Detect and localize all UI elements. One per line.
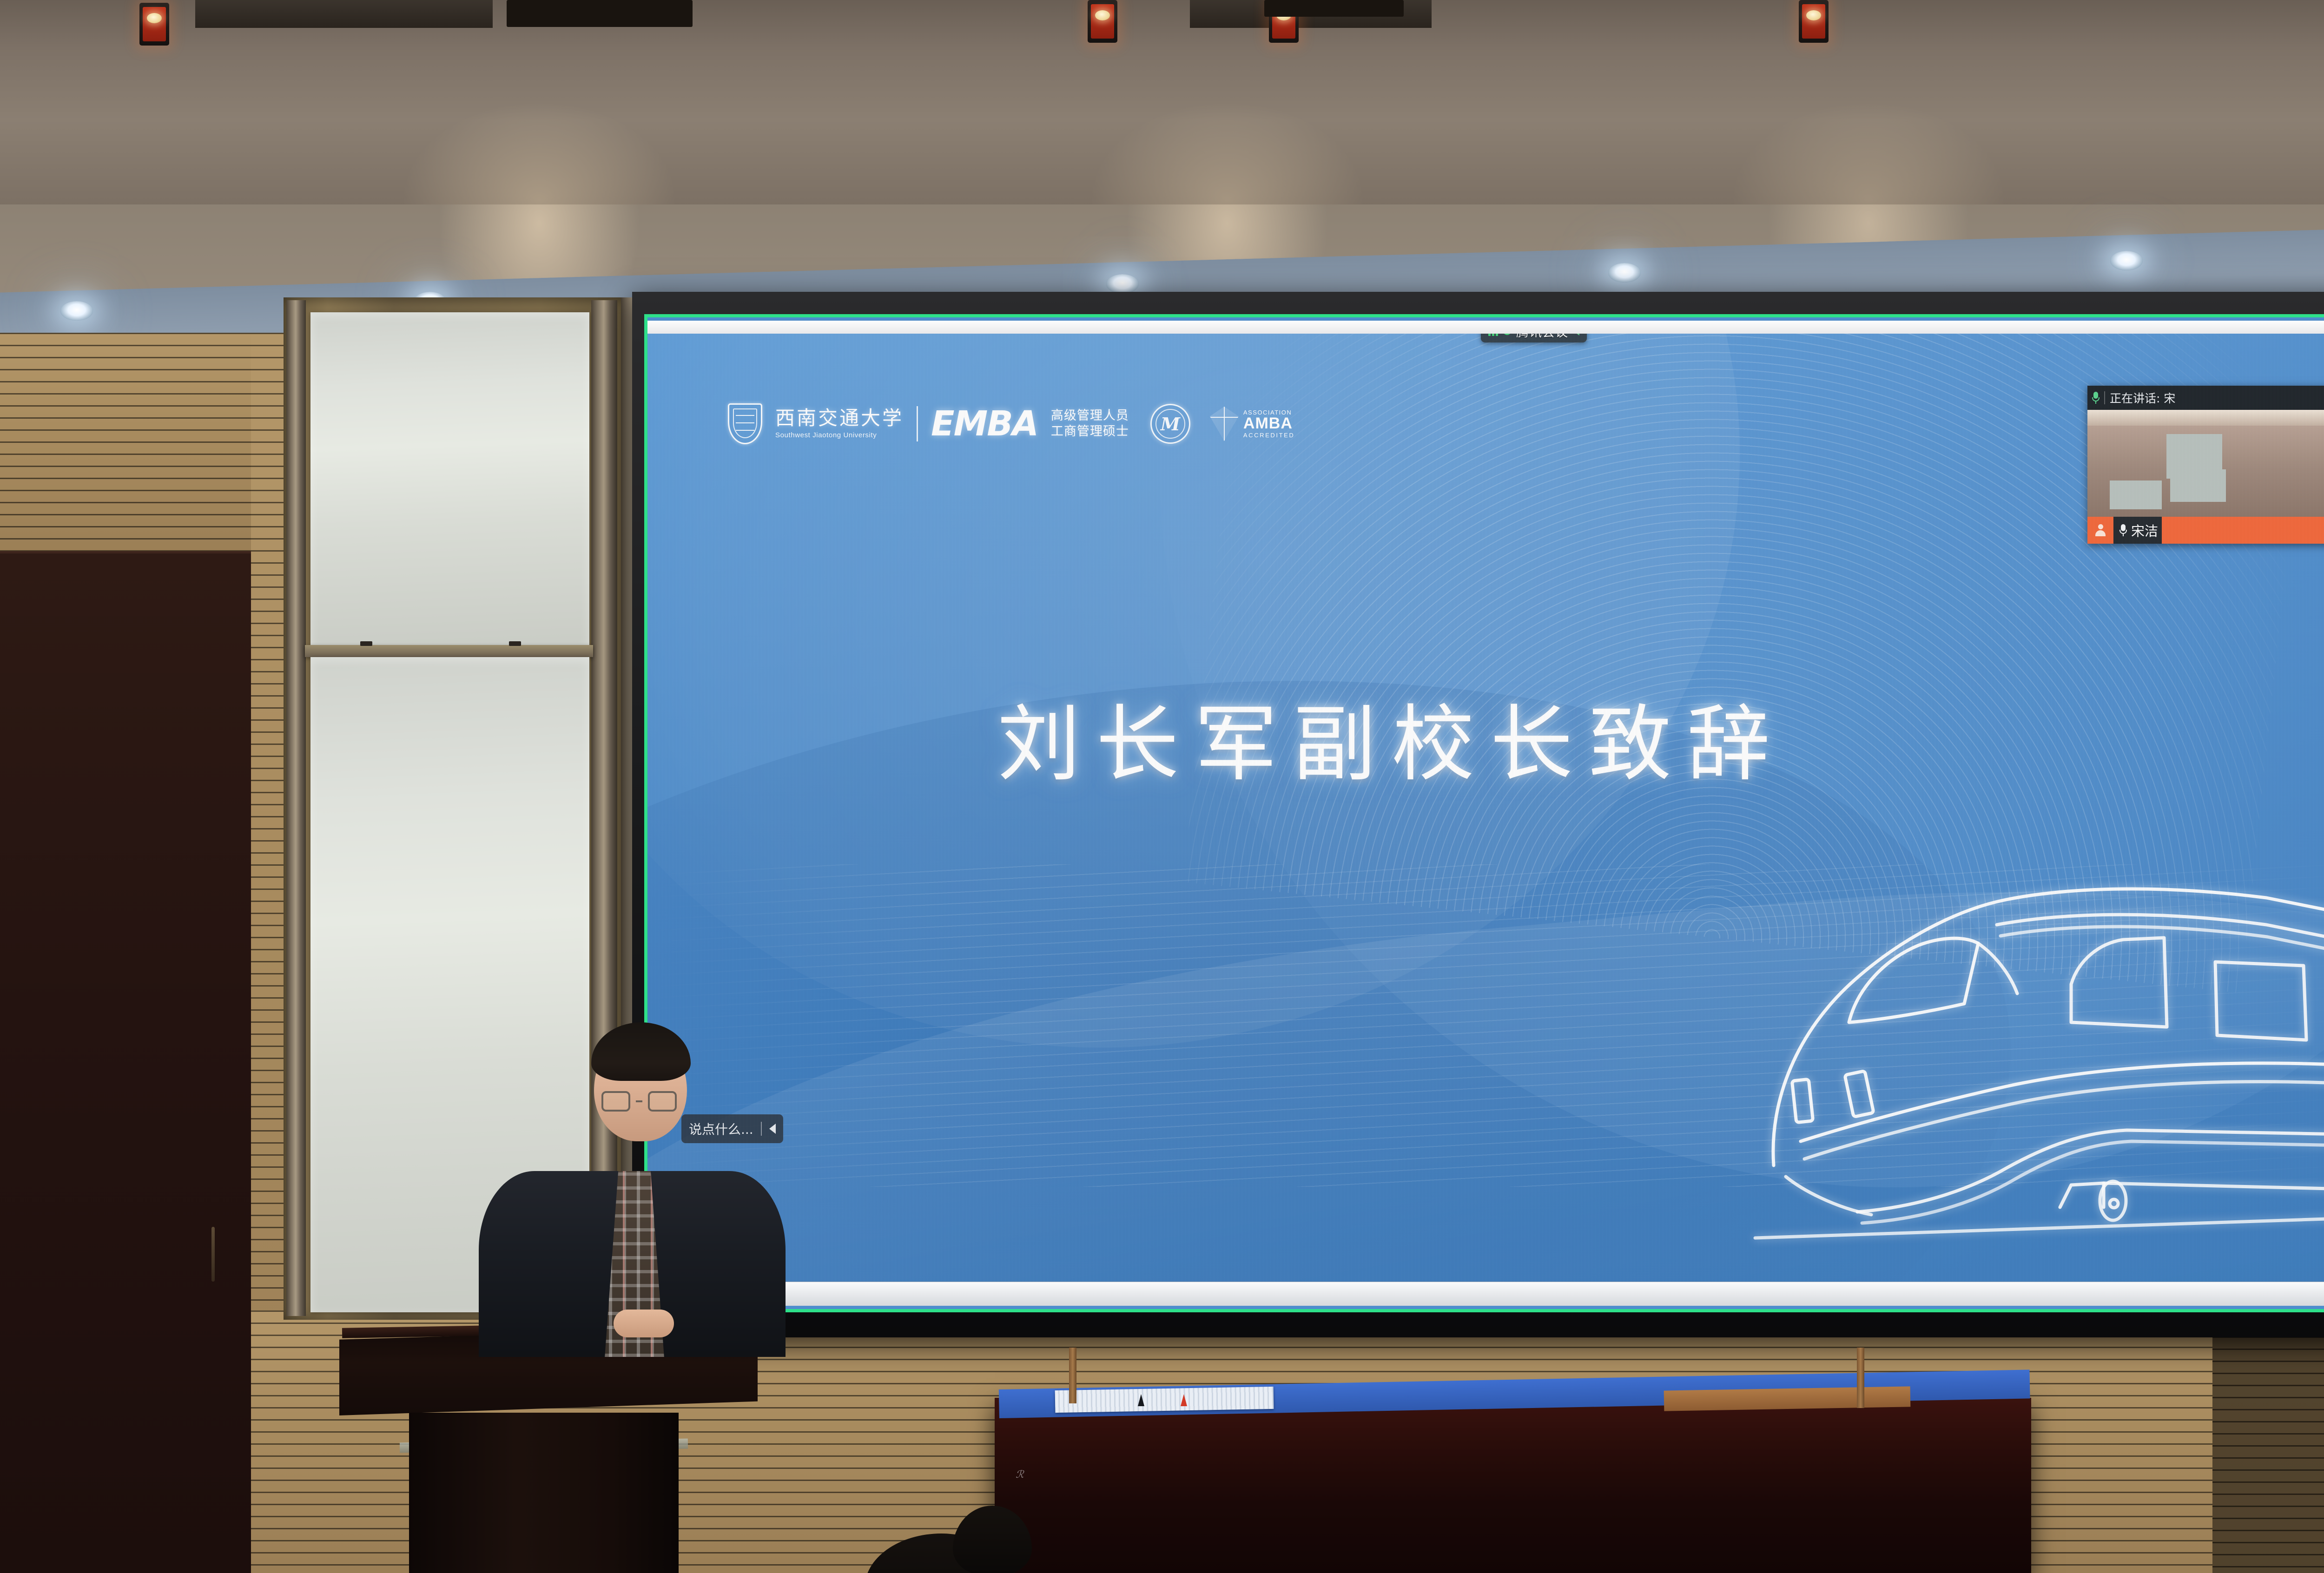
- amba-diamond-icon: [1210, 407, 1239, 441]
- screenshot-root: 西南交通大学 Southwest Jiaotong University EMB…: [0, 0, 2324, 1573]
- program-name-cn-block: 高级管理人员 工商管理硕士: [1051, 408, 1129, 440]
- cabinet-wood-board: [1664, 1386, 1911, 1411]
- speaker-hands: [614, 1310, 674, 1337]
- program-name-cn-line1: 高级管理人员: [1051, 408, 1129, 424]
- ceiling-downlight-3: [1106, 274, 1139, 294]
- whiteboard-marker-tray: [305, 645, 593, 657]
- ceiling-spotlight-red-3: [1088, 0, 1117, 43]
- whiteboard-clip-2: [509, 641, 521, 646]
- speaker-glasses: [601, 1091, 677, 1112]
- chevron-left-icon[interactable]: [769, 1124, 776, 1134]
- video-panel-header: 正在讲话: 宋: [2087, 386, 2324, 410]
- window-titlebar: [644, 321, 2324, 334]
- podium-column: [409, 1413, 679, 1573]
- chat-composer[interactable]: 说点什么...: [681, 1114, 783, 1143]
- ceiling-downlight-5: [2110, 251, 2143, 270]
- ceiling-downlight-4: [1608, 263, 1641, 283]
- participant-mic-icon: [2119, 524, 2127, 536]
- whiteboard-rail-right: [591, 300, 617, 1316]
- amba-line2: AMBA: [1243, 415, 1295, 432]
- door-left[interactable]: [0, 551, 260, 1573]
- meeting-status-bar[interactable]: 腾讯会议: [1481, 334, 1587, 342]
- now-speaking-label: 正在讲话: 宋: [2110, 389, 2175, 406]
- amba-accreditation-logo: ASSOCIATION AMBA ACCREDITED: [1210, 407, 1295, 441]
- participant-name: 宋洁: [2131, 520, 2158, 540]
- whiteboard-rail-left: [286, 300, 306, 1316]
- video-feed: [2087, 410, 2324, 517]
- cabinet-papers: [1055, 1387, 1274, 1413]
- university-name-en: Southwest Jiaotong University: [775, 431, 904, 439]
- ceiling-recess-left: [195, 0, 493, 28]
- university-name-cn: 西南交通大学: [775, 408, 904, 428]
- presentation-slide: 西南交通大学 Southwest Jiaotong University EMB…: [644, 334, 2324, 1282]
- desktop-taskbar[interactable]: [644, 1282, 2324, 1306]
- ceiling-spotlight-red-4: [1799, 0, 1829, 43]
- side-cabinet: [995, 1398, 2031, 1573]
- university-seal-icon: [1150, 404, 1190, 444]
- chat-input-placeholder[interactable]: 说点什么...: [689, 1119, 753, 1138]
- slide-title: 刘长军副校长致辞: [997, 678, 1786, 797]
- microphone-icon: [2092, 392, 2100, 404]
- university-crest-icon: [728, 403, 762, 444]
- cabinet-support-pole-2: [1069, 1348, 1076, 1403]
- video-participant-footer: 宋洁: [2087, 517, 2324, 544]
- whiteboard-panel-upper[interactable]: [310, 312, 589, 647]
- ceiling-spotlight-red-1: [139, 3, 169, 46]
- glasses-lens-left: [601, 1091, 630, 1112]
- green-dot-icon: [1503, 334, 1511, 335]
- ceiling-downlight-1: [60, 301, 93, 321]
- projection-screen[interactable]: 西南交通大学 Southwest Jiaotong University EMB…: [644, 314, 2324, 1312]
- door-handle[interactable]: [211, 1227, 215, 1282]
- chat-divider: [761, 1122, 762, 1136]
- video-participant-panel[interactable]: 正在讲话: 宋 宋洁: [2087, 386, 2324, 544]
- amba-line3: ACCREDITED: [1243, 432, 1295, 439]
- university-name-block: 西南交通大学 Southwest Jiaotong University: [775, 408, 904, 439]
- ceiling: [0, 0, 2324, 218]
- speaker-icon[interactable]: [1573, 334, 1579, 336]
- meeting-app-name: 腾讯会议: [1516, 334, 1568, 340]
- high-speed-train-illustration: [1746, 840, 2324, 1240]
- video-feed-table-2: [2170, 469, 2226, 502]
- participant-name-row: 宋洁: [2113, 520, 2158, 540]
- signal-bars-icon: [1488, 334, 1498, 336]
- amba-text-block: ASSOCIATION AMBA ACCREDITED: [1243, 409, 1295, 439]
- slide-logo-lockup: 西南交通大学 Southwest Jiaotong University EMB…: [728, 403, 1294, 444]
- ceiling-vent-1: [507, 0, 693, 27]
- video-feed-table-3: [2110, 480, 2162, 509]
- whiteboard-clip-1: [360, 641, 372, 646]
- logo-divider: [917, 406, 918, 441]
- video-footer-accent: [2162, 517, 2324, 544]
- cabinet-support-pole: [1857, 1348, 1864, 1408]
- glasses-lens-right: [648, 1091, 677, 1112]
- cabinet-brand-logo: ℛ: [1016, 1468, 1027, 1481]
- emba-wordmark: EMBA: [931, 408, 1038, 440]
- ceiling-vent-2: [1264, 0, 1404, 17]
- video-feed-ceiling: [2087, 410, 2324, 426]
- program-name-cn-line2: 工商管理硕士: [1051, 424, 1129, 440]
- glasses-bridge: [636, 1100, 642, 1102]
- video-header-divider: [2104, 391, 2105, 404]
- person-avatar-icon: [2087, 517, 2113, 544]
